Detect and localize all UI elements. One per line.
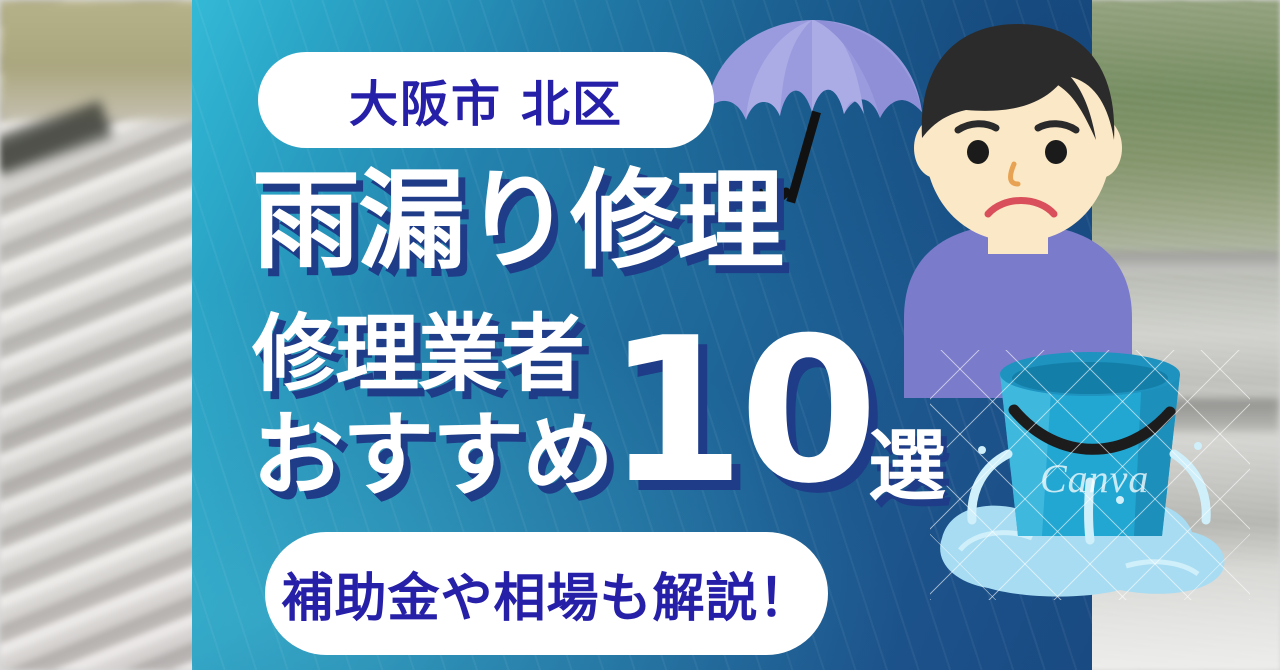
worried-person-icon [896,18,1140,398]
count-number: 10 [606,312,872,512]
footer-pill-label: 補助金や相場も解説！ [281,556,811,631]
region-pill-label: 大阪市 北区 [349,65,623,136]
banner-image: Canva 大阪市 北区 雨漏り修理 修理業者 おすすめ 10 選 補助金や相場… [0,0,1280,670]
headline-main: 雨漏り修理 [252,168,782,276]
roof-tiles-photo [0,0,200,670]
region-pill: 大阪市 北区 [258,52,714,148]
count-unit: 選 [868,428,946,506]
footer-pill: 補助金や相場も解説！ [265,532,828,655]
leak-bucket-icon [930,350,1250,600]
roof-moss-band [0,0,200,120]
headline-sub-2: おすすめ [252,410,612,502]
headline-sub-1: 修理業者 [252,312,584,396]
